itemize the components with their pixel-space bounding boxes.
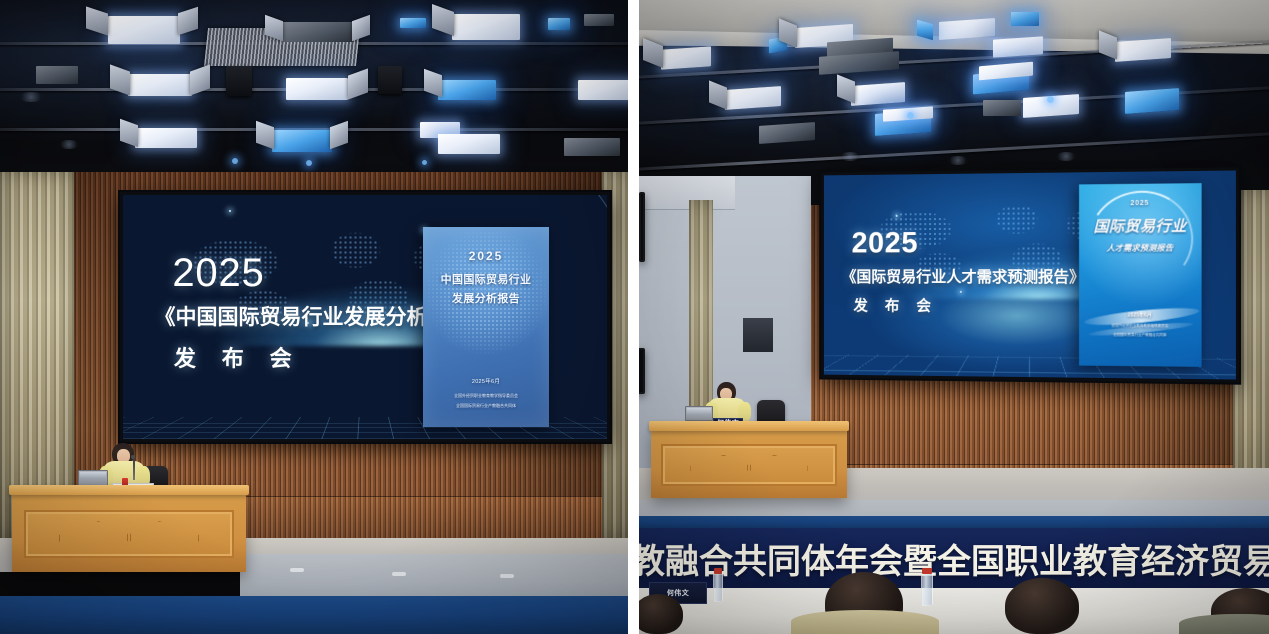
- lamp-glow-dot: [422, 160, 427, 165]
- cover-line1: 国际贸易行业: [1079, 215, 1202, 237]
- podium-panel: [661, 444, 837, 485]
- barn-door-icon: [86, 6, 108, 35]
- report-cover-right: 2025 国际贸易行业 人才需求预测报告 2025年6月 全国外经贸职业教育教学…: [1079, 183, 1202, 366]
- white-floodlight-icon: [851, 82, 905, 106]
- ceiling-vent-icon: [18, 92, 44, 102]
- photo-collage: 2025 《中国国际贸易行业发展分析报告》 发 布 会 2025 中国国际贸易行…: [0, 0, 1269, 634]
- barn-door-icon: [424, 69, 442, 98]
- dim-fixture-icon: [983, 100, 1021, 116]
- collage-divider: [628, 0, 639, 634]
- ceiling-vent-icon: [947, 156, 969, 165]
- podium-panel: [24, 510, 235, 557]
- dim-fixture-icon: [564, 138, 620, 156]
- speaker-box-icon: [378, 66, 402, 94]
- ceiling-vent-icon: [839, 152, 861, 161]
- floor-marker: [500, 574, 514, 578]
- led-screen-left: 2025 《中国国际贸易行业发展分析报告》 发 布 会 2025 中国国际贸易行…: [120, 192, 610, 442]
- barn-door-icon: [432, 4, 454, 36]
- wall-dark-recess: [743, 318, 773, 352]
- spark-dot: [895, 215, 897, 217]
- side-monitor: [639, 192, 645, 262]
- water-bottle: [713, 572, 723, 602]
- white-floodlight-icon: [578, 80, 628, 100]
- slide-subtitle-left: 发 布 会: [174, 341, 302, 373]
- floor-marker: [392, 572, 406, 576]
- microphone-stem: [133, 458, 135, 480]
- cover-org1: 全国外经贸职业教育教学指导委员会: [423, 393, 549, 399]
- bottle-cap: [922, 568, 932, 574]
- microphone-head: [131, 455, 135, 459]
- podium-top-edge: [649, 421, 850, 431]
- stage-edge-band: [0, 596, 628, 634]
- slide-surface: 2025 《国际贸易行业人才需求预测报告》 发 布 会 2025 国际贸易行业 …: [824, 170, 1236, 379]
- podium-right: [651, 426, 847, 498]
- barn-door-icon: [120, 119, 138, 148]
- left-photo: 2025 《中国国际贸易行业发展分析报告》 发 布 会 2025 中国国际贸易行…: [0, 0, 628, 634]
- podium-top-edge: [9, 485, 249, 495]
- podium-chevron-motif: [59, 521, 200, 547]
- lamp-glow-dot: [907, 112, 914, 119]
- barn-door-icon: [837, 74, 855, 103]
- barn-door-icon: [352, 15, 370, 42]
- audience-head: [1005, 578, 1079, 634]
- audience-shoulder: [1179, 614, 1269, 634]
- audience-head: [639, 594, 683, 634]
- speaker-box-icon: [226, 66, 252, 96]
- right-photo: 2025 《国际贸易行业人才需求预测报告》 发 布 会 2025 国际贸易行业 …: [639, 0, 1269, 634]
- bottle-cap: [714, 568, 722, 574]
- barn-door-icon: [348, 68, 368, 99]
- white-floodlight-icon: [108, 16, 180, 44]
- white-floodlight-icon: [1115, 38, 1171, 62]
- ceiling-vent-icon: [1055, 152, 1077, 161]
- white-floodlight-icon: [661, 46, 711, 69]
- slide-title-right: 《国际贸易行业人才需求预测报告》: [842, 265, 1085, 287]
- white-floodlight-icon: [135, 128, 197, 148]
- blue-floodlight-icon: [1125, 88, 1179, 114]
- white-floodlight-icon: [128, 74, 192, 96]
- floor-marker: [290, 568, 304, 572]
- slide-surface: 2025 《中国国际贸易行业发展分析报告》 发 布 会 2025 中国国际贸易行…: [123, 195, 607, 439]
- ceiling-rig-left: [0, 0, 628, 172]
- white-floodlight-icon: [452, 14, 520, 40]
- podium-left: [12, 490, 246, 572]
- blue-floodlight-icon: [1011, 12, 1039, 26]
- slide-year-right: 2025: [852, 227, 919, 261]
- cover-date: 2025年6月: [1079, 311, 1202, 319]
- white-floodlight-icon: [286, 78, 348, 100]
- barn-door-icon: [256, 121, 274, 150]
- barn-door-icon: [178, 7, 198, 35]
- white-floodlight-icon: [725, 86, 781, 110]
- slide-year-left: 2025: [172, 251, 264, 296]
- audience-shoulder: [791, 610, 939, 634]
- barn-door-icon: [709, 80, 727, 109]
- white-floodlight-icon: [993, 36, 1043, 57]
- cover-org2: 全国国际贸易行业产教融合共同体: [1079, 333, 1202, 339]
- dim-fixture-icon: [36, 66, 78, 84]
- event-banner-text: 教融合共同体年会暨全国职业教育经济贸易类专: [639, 534, 1269, 583]
- laptop: [685, 406, 713, 421]
- truss-bar: [639, 131, 1269, 172]
- laptop: [78, 470, 108, 486]
- cover-date: 2025年6月: [423, 377, 549, 385]
- cover-year: 2025: [1079, 200, 1202, 208]
- cover-line2: 发展分析报告: [423, 290, 549, 306]
- blue-floodlight-icon: [438, 80, 496, 100]
- audience-table: [639, 588, 1269, 634]
- water-bottle: [921, 572, 933, 606]
- led-screen-right: 2025 《国际贸易行业人才需求预测报告》 发 布 会 2025 国际贸易行业 …: [821, 167, 1239, 382]
- ceiling-vent-icon: [58, 140, 80, 149]
- dim-fixture-icon: [584, 14, 614, 26]
- slide-subtitle-right: 发 布 会: [854, 295, 938, 316]
- wall-upper-trim: [639, 176, 735, 210]
- side-monitor: [639, 348, 645, 394]
- white-floodlight-icon: [438, 134, 500, 154]
- lamp-glow-dot: [306, 160, 312, 166]
- event-banner: 教融合共同体年会暨全国职业教育经济贸易类专: [639, 528, 1269, 590]
- report-cover-left: 2025 中国国际贸易行业 发展分析报告 2025年6月 全国外经贸职业教育教学…: [423, 227, 549, 427]
- lamp-glow-dot: [1047, 96, 1054, 103]
- cover-org2: 全国国际贸易行业产教融合共同体: [423, 403, 549, 409]
- dim-fixture-icon: [759, 122, 815, 144]
- blue-floodlight-icon: [400, 18, 426, 28]
- cover-line1: 中国国际贸易行业: [423, 271, 549, 287]
- stage-curtain-left: [0, 172, 74, 538]
- barn-door-icon: [330, 121, 348, 150]
- stage-floor-apron: [240, 554, 628, 602]
- dim-fixture-icon: [282, 22, 354, 42]
- cover-year: 2025: [423, 249, 549, 263]
- blue-floodlight-icon: [272, 130, 332, 152]
- podium-chevron-motif: [690, 455, 807, 475]
- cover-line2: 人才需求预测报告: [1079, 242, 1202, 254]
- blue-floodlight-icon: [548, 18, 570, 30]
- lamp-glow-dot: [232, 158, 238, 164]
- cover-org1: 全国外经贸职业教育教学指导委员会: [1079, 324, 1202, 330]
